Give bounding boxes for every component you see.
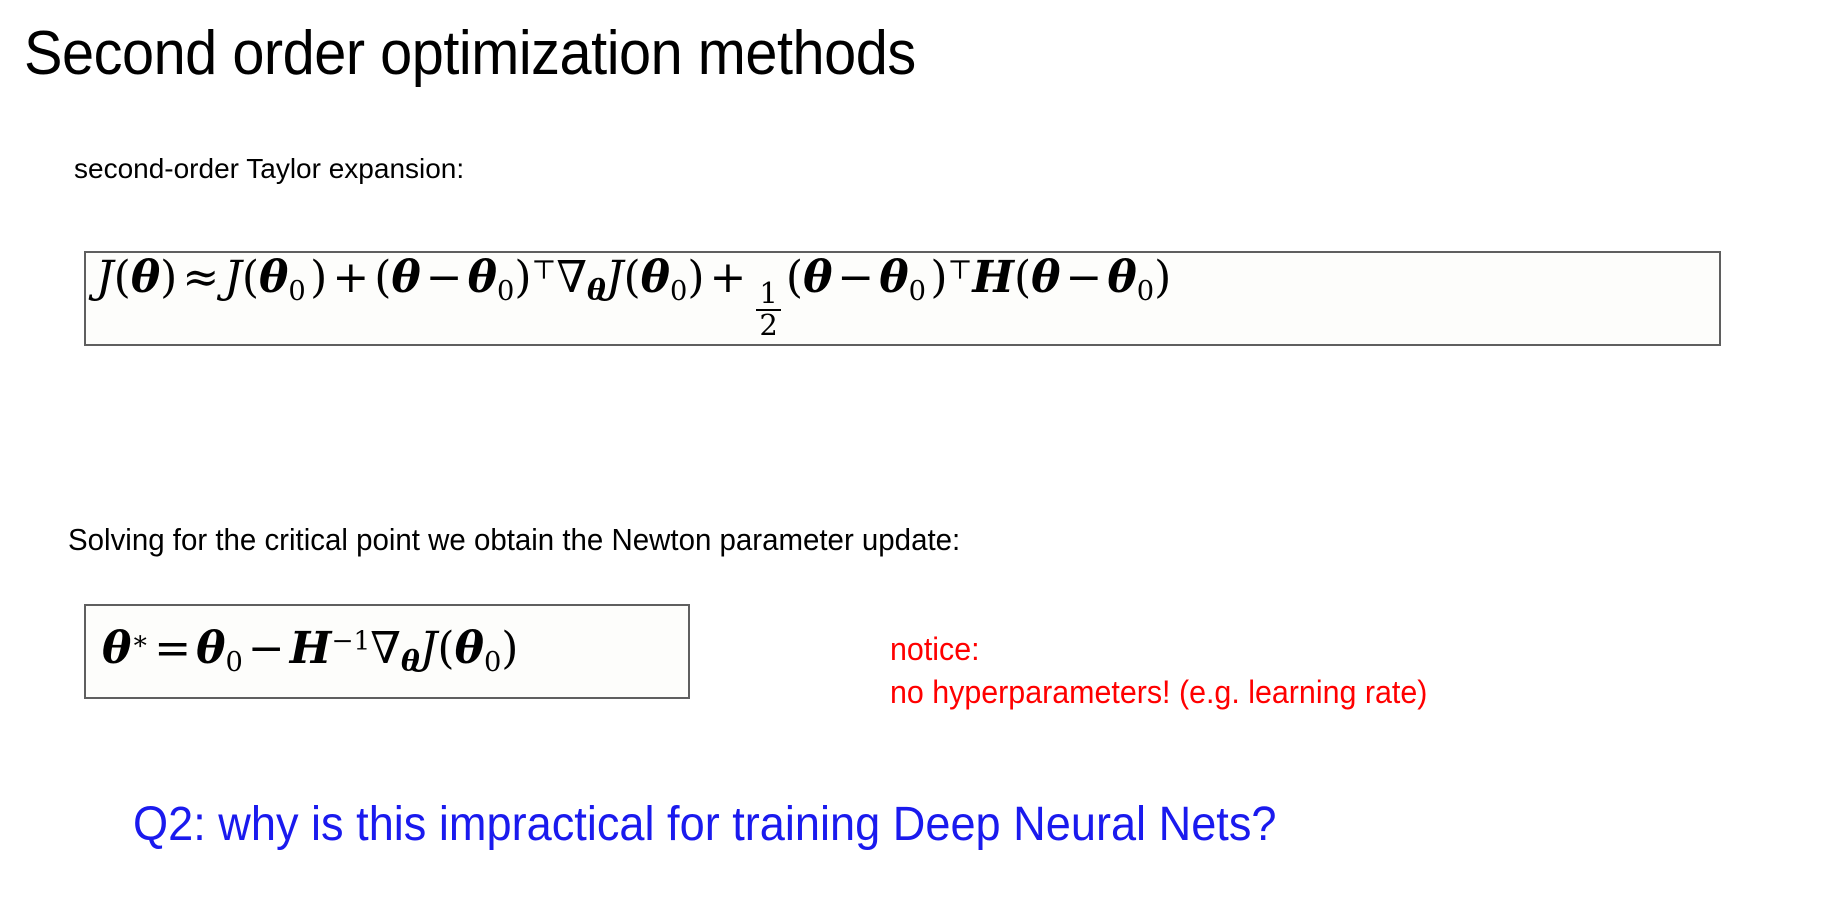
newton-update-label: Solving for the critical point we obtain… xyxy=(68,521,960,559)
equation-box-taylor: J(θ)≈J(θ0 )+(θ−θ0)⊤∇θJ(θ0)+12(θ−θ0 )⊤H(θ… xyxy=(84,251,1721,346)
slide-canvas: Second order optimization methods second… xyxy=(0,0,1828,915)
taylor-expansion-label: second-order Taylor expansion: xyxy=(74,152,464,186)
equation-taylor-expression: J(θ)≈J(θ0 )+(θ−θ0)⊤∇θJ(θ0)+12(θ−θ0 )⊤H(θ… xyxy=(96,256,1171,340)
notice-annotation: notice: no hyperparameters! (e.g. learni… xyxy=(890,628,1427,714)
page-title: Second order optimization methods xyxy=(24,18,916,90)
equation-box-newton: θ∗=θ0−H−1∇θJ(θ0) xyxy=(84,604,690,699)
equation-newton-expression: θ∗=θ0−H−1∇θJ(θ0) xyxy=(102,627,518,676)
notice-line-1: notice: xyxy=(890,628,1427,671)
notice-line-2: no hyperparameters! (e.g. learning rate) xyxy=(890,671,1427,714)
question-annotation: Q2: why is this impractical for training… xyxy=(133,796,1276,854)
